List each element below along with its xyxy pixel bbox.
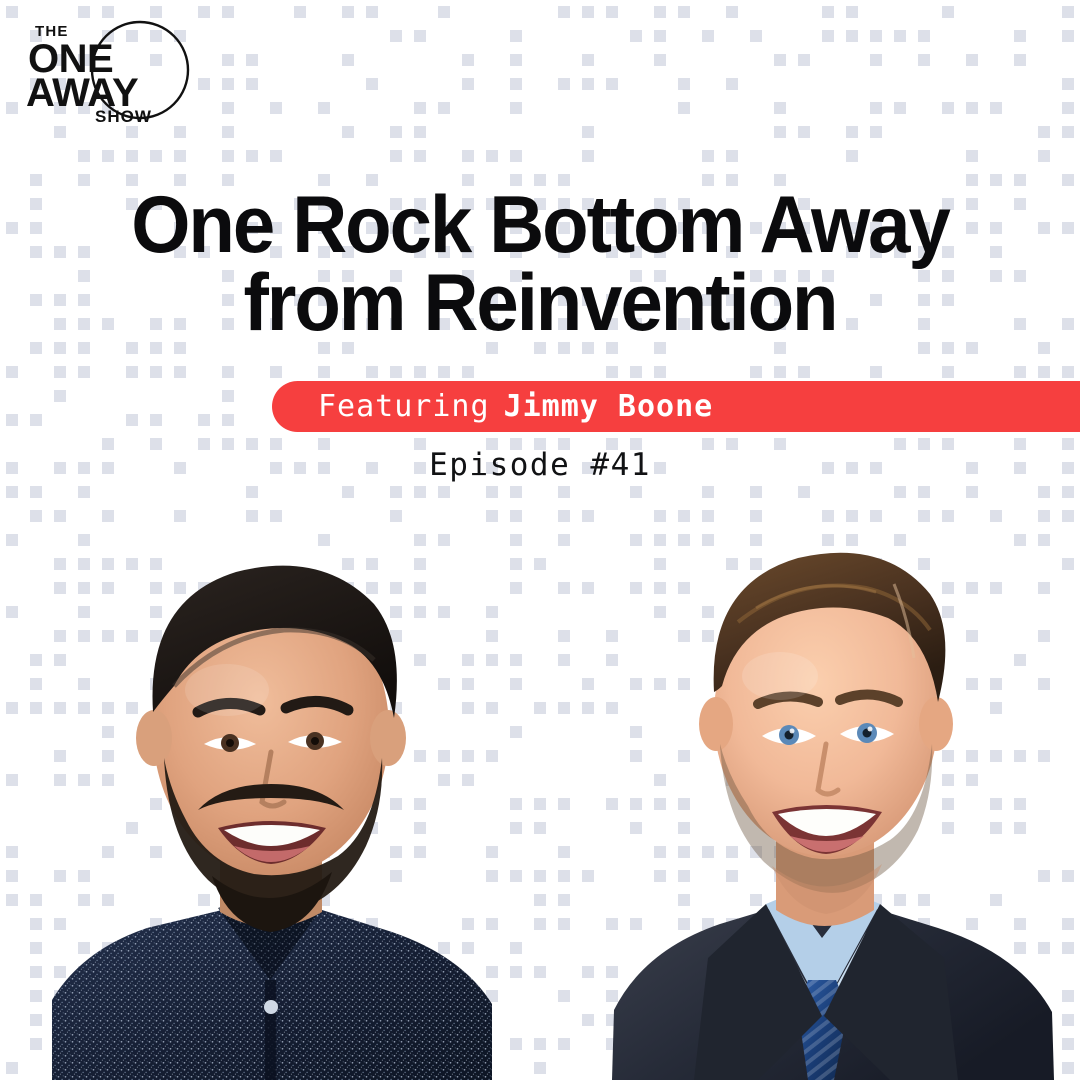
host-portrait — [22, 480, 522, 1080]
guest-portrait — [608, 480, 1068, 1080]
featuring-label: Featuring — [318, 389, 490, 424]
logo-show-text: SHOW — [95, 107, 152, 126]
featuring-banner-text: FeaturingJimmy Boone — [318, 389, 713, 424]
episode-number: Episode #41 — [0, 447, 1080, 483]
episode-cover-canvas: THE ONE AWAY SHOW One Rock Bottom Away f… — [0, 0, 1080, 1080]
episode-title-line-2: from Reinvention — [32, 264, 1047, 342]
featuring-banner: FeaturingJimmy Boone — [272, 381, 1080, 432]
episode-title: One Rock Bottom Away from Reinvention — [0, 186, 1080, 342]
guest-name: Jimmy Boone — [504, 389, 714, 424]
one-away-show-logo[interactable]: THE ONE AWAY SHOW — [22, 14, 197, 126]
episode-title-line-1: One Rock Bottom Away — [32, 186, 1047, 264]
episode-number-label: Episode #41 — [429, 447, 651, 483]
